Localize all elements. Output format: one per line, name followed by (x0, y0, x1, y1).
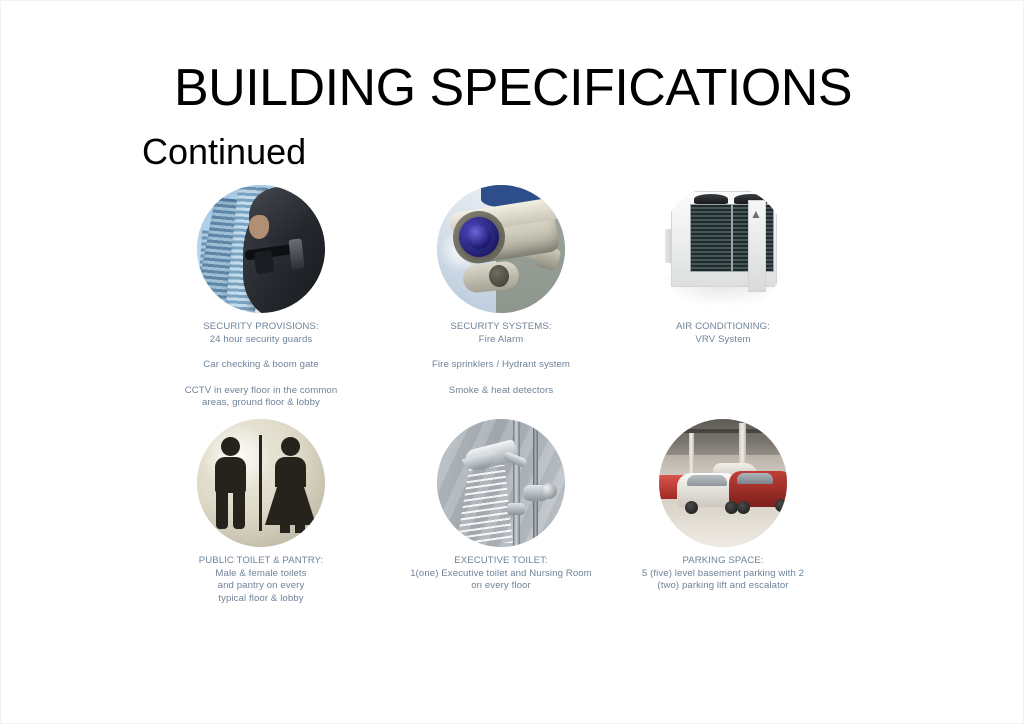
presentation-slide: BUILDING SPECIFICATIONS Continued (0, 0, 1024, 724)
spec-card-security-systems: SECURITY SYSTEMS: Fire Alarm Fire sprink… (371, 185, 631, 397)
page-title: BUILDING SPECIFICATIONS (1, 58, 1024, 118)
thumbnail-wrapper (437, 419, 565, 547)
spec-line: CCTV in every floor in the common (131, 385, 391, 398)
male-female-toilet-sign-photo (197, 419, 325, 547)
shower-valve-knob (541, 483, 557, 499)
spec-caption: PUBLIC TOILET & PANTRY: Male & female to… (131, 555, 391, 605)
spec-heading: SECURITY SYSTEMS: (371, 321, 631, 334)
garage-ceiling-beam (659, 429, 787, 433)
spec-paragraph: Smoke & heat detectors (371, 385, 631, 398)
spec-paragraph: Fire sprinklers / Hydrant system (371, 359, 631, 372)
garage-ceiling (659, 419, 787, 459)
unit-cabinet: ▲ (671, 191, 777, 287)
spec-paragraph: Car checking & boom gate (131, 359, 391, 372)
spec-card-public-toilet-pantry: PUBLIC TOILET & PANTRY: Male & female to… (131, 419, 391, 605)
car-windshield (737, 473, 773, 484)
spec-caption: SECURITY PROVISIONS: 24 hour security gu… (131, 321, 391, 410)
spec-card-security-provisions: SECURITY PROVISIONS: 24 hour security gu… (131, 185, 391, 410)
manufacturer-logo-icon: ▲ (750, 208, 762, 220)
shower-bracket (507, 503, 525, 515)
car-wheel (737, 501, 750, 514)
thumbnail-wrapper (197, 185, 325, 313)
sign-divider-line (259, 435, 262, 531)
shower-riser-rail-secondary (533, 419, 538, 547)
spec-line: 24 hour security guards (131, 334, 391, 347)
male-figure-leg-right-icon (233, 489, 245, 529)
spec-heading: SECURITY PROVISIONS: (131, 321, 391, 334)
spec-line: VRV System (593, 334, 853, 347)
shower-head-photo (437, 419, 565, 547)
guard-face-shape (249, 215, 269, 239)
spec-caption: PARKING SPACE: 5 (five) level basement p… (593, 555, 853, 593)
female-figure-leg-left-icon (280, 519, 290, 533)
spec-card-air-conditioning: ▲ AIR CONDITIONING: VRV System (593, 185, 853, 346)
spec-card-executive-toilet: EXECUTIVE TOILET: 1(one) Executive toile… (371, 419, 631, 593)
spec-line: Male & female toilets (131, 568, 391, 581)
vrv-outdoor-unit-photo: ▲ (659, 185, 787, 313)
spec-line: and pantry on every (131, 580, 391, 593)
guard-pouch-shape (254, 250, 275, 274)
female-figure-head-icon (281, 437, 300, 456)
security-guard-illustration (197, 185, 325, 313)
thumbnail-wrapper (437, 185, 565, 313)
shower-riser-rail (513, 419, 520, 547)
spec-line: typical floor & lobby (131, 593, 391, 606)
spec-paragraph: CCTV in every floor in the common areas,… (131, 385, 391, 410)
slide-subtitle: Continued (142, 131, 306, 173)
spec-line: areas, ground floor & lobby (131, 397, 391, 410)
female-figure-skirt-icon (265, 483, 316, 525)
spec-caption: AIR CONDITIONING: VRV System (593, 321, 853, 346)
spec-card-parking-space: PARKING SPACE: 5 (five) level basement p… (593, 419, 853, 593)
male-figure-leg-left-icon (216, 489, 228, 529)
male-figure-torso-icon (215, 457, 246, 493)
camera-lens-inner (467, 225, 491, 249)
spec-line: on every floor (371, 580, 631, 593)
spec-heading: PARKING SPACE: (593, 555, 853, 568)
thumbnail-wrapper: ▲ (659, 185, 787, 313)
male-figure-head-icon (221, 437, 240, 456)
spec-line: (two) parking lift and escalator (593, 580, 853, 593)
parking-garage-illustration (659, 419, 787, 547)
spec-caption: EXECUTIVE TOILET: 1(one) Executive toile… (371, 555, 631, 593)
female-figure-torso-icon (275, 457, 306, 487)
spec-heading: AIR CONDITIONING: (593, 321, 853, 334)
unit-grille-left (690, 204, 732, 272)
spec-line: 5 (five) level basement parking with 2 (593, 568, 853, 581)
spec-line: 1(one) Executive toilet and Nursing Room (371, 568, 631, 581)
car-wheel (775, 499, 787, 512)
spec-heading: PUBLIC TOILET & PANTRY: (131, 555, 391, 568)
car-wheel (685, 501, 698, 514)
car-windshield (687, 475, 727, 486)
cctv-camera-illustration (437, 185, 565, 313)
shower-illustration (437, 419, 565, 547)
female-figure-leg-right-icon (295, 519, 305, 533)
vrv-unit-illustration: ▲ (659, 185, 787, 313)
spec-heading: EXECUTIVE TOILET: (371, 555, 631, 568)
cctv-camera-photo (437, 185, 565, 313)
security-guard-skyscraper-photo (197, 185, 325, 313)
spec-caption: SECURITY SYSTEMS: Fire Alarm Fire sprink… (371, 321, 631, 397)
thumbnail-wrapper (197, 419, 325, 547)
restroom-sign-illustration (197, 419, 325, 547)
spec-line: Fire Alarm (371, 334, 631, 347)
basement-parking-cars-photo (659, 419, 787, 547)
thumbnail-wrapper (659, 419, 787, 547)
unit-fan-left (694, 194, 728, 204)
